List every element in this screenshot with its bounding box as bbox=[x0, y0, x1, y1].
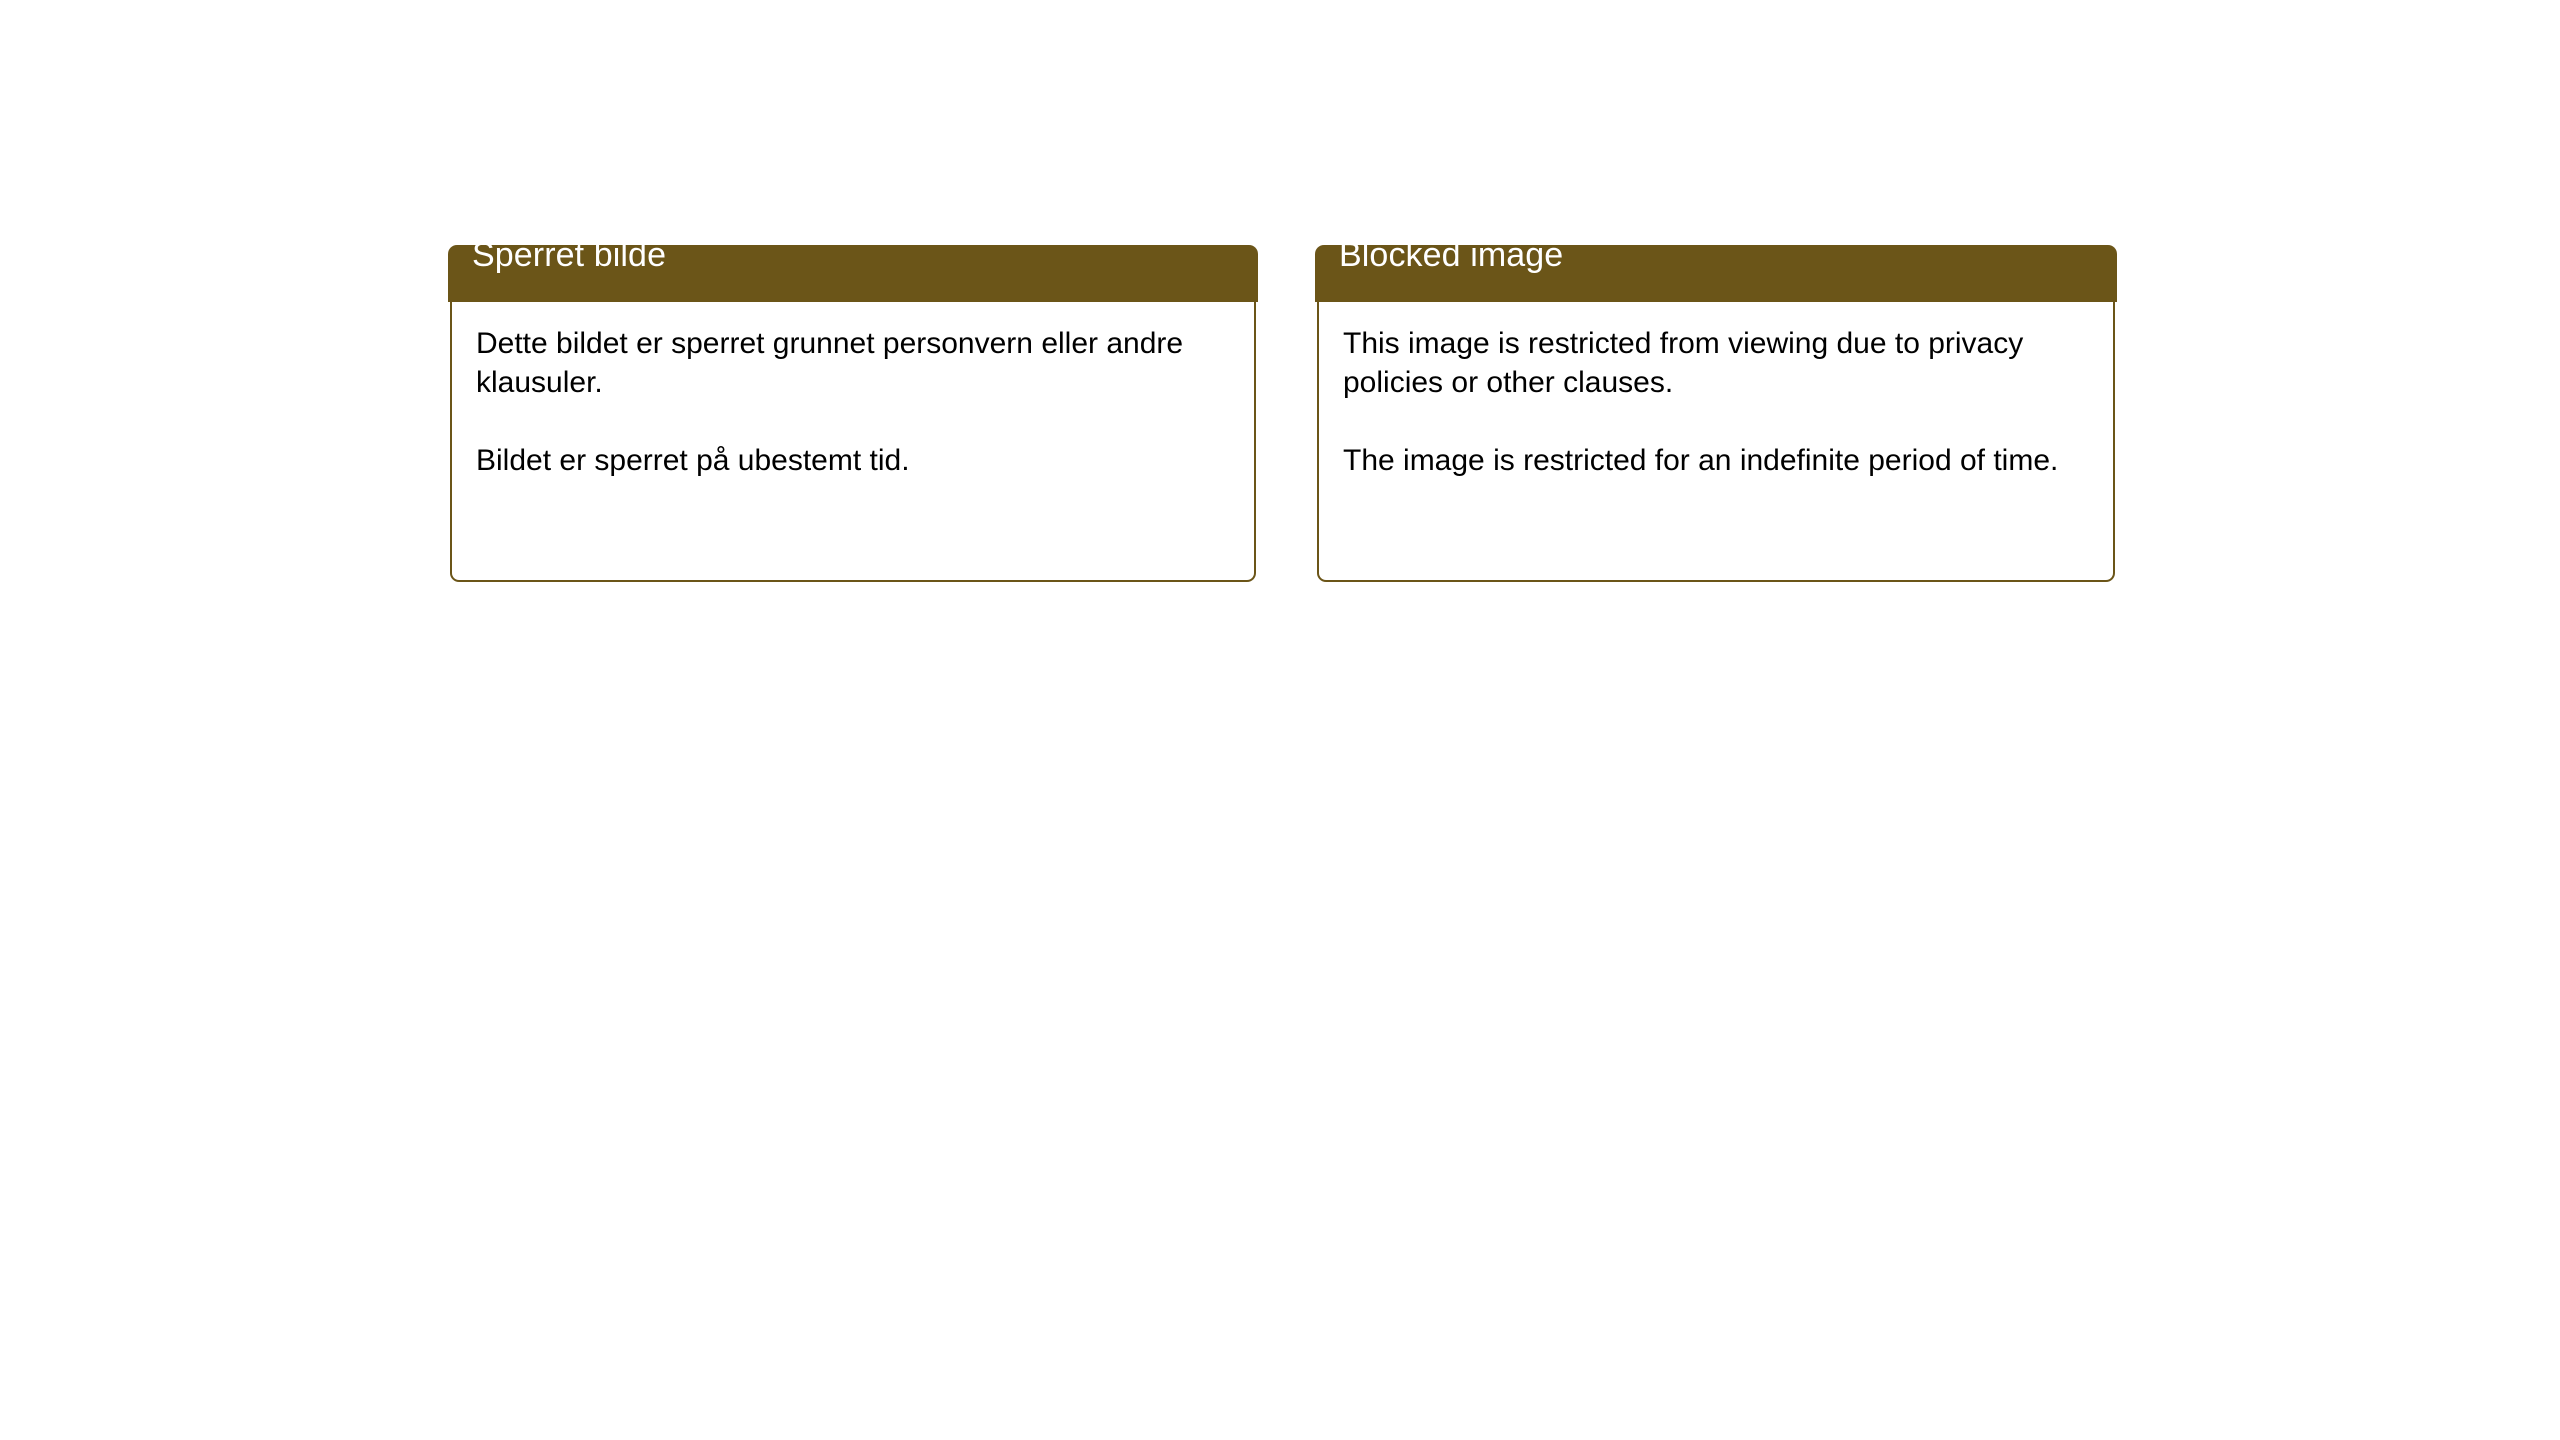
notice-title-nb: Sperret bilde bbox=[472, 235, 666, 275]
notice-header-nb: Sperret bilde bbox=[448, 245, 1258, 302]
notice-paragraph-duration-nb: Bildet er sperret på ubestemt tid. bbox=[476, 441, 1228, 480]
notice-paragraph-reason-nb: Dette bildet er sperret grunnet personve… bbox=[476, 324, 1228, 402]
notice-body-en: This image is restricted from viewing du… bbox=[1317, 302, 2115, 582]
blocked-image-notice-nb: Sperret bilde Dette bildet er sperret gr… bbox=[450, 245, 1256, 582]
notice-header-en: Blocked image bbox=[1315, 245, 2117, 302]
page-canvas: Sperret bilde Dette bildet er sperret gr… bbox=[0, 0, 2560, 1440]
notice-paragraph-reason-en: This image is restricted from viewing du… bbox=[1343, 324, 2087, 402]
blocked-image-notice-en: Blocked image This image is restricted f… bbox=[1317, 245, 2115, 582]
notice-body-nb: Dette bildet er sperret grunnet personve… bbox=[450, 302, 1256, 582]
notice-paragraph-duration-en: The image is restricted for an indefinit… bbox=[1343, 441, 2087, 480]
notice-title-en: Blocked image bbox=[1339, 235, 1563, 275]
